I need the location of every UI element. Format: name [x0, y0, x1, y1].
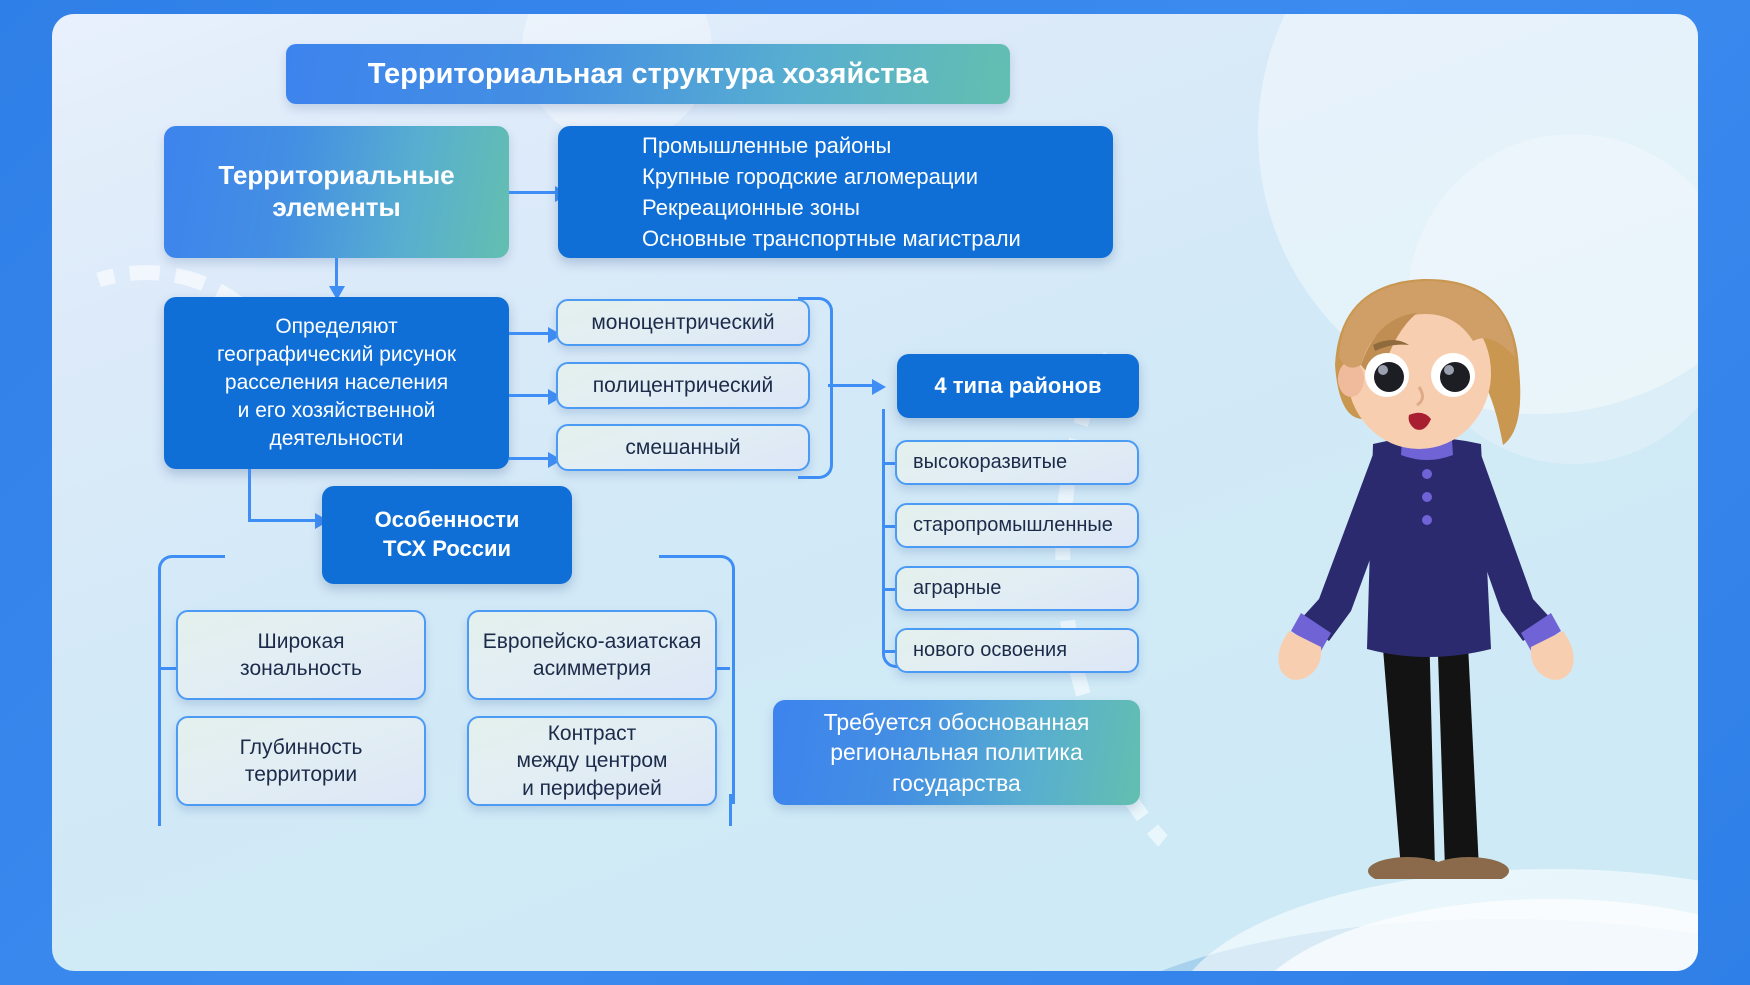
- four-type-label: высокоразвитые: [913, 451, 1067, 474]
- four-type-label: аграрные: [913, 577, 1001, 600]
- connector-determine-to-features-v: [248, 469, 251, 522]
- decor-wave-white: [1172, 869, 1698, 971]
- bracket-features-left-stem: [158, 794, 161, 826]
- button-3: [1422, 515, 1432, 525]
- structure-type-label: моноцентрический: [591, 311, 774, 335]
- left-pupil: [1374, 362, 1404, 392]
- right-shoe: [1429, 857, 1509, 879]
- node-four-type-4: нового освоения: [895, 628, 1139, 673]
- node-determine: Определяют географический рисунок рассел…: [164, 297, 509, 469]
- left-eye-glint: [1378, 365, 1388, 375]
- node-four-type-2: старопромышленные: [895, 503, 1139, 548]
- list-item: Основные транспортные магистрали: [642, 223, 1021, 254]
- node-conclusion: Требуется обоснованная региональная поли…: [773, 700, 1140, 805]
- node-feature-2: Европейско-азиатская асимметрия: [467, 610, 717, 700]
- decor-wave-blue: [1052, 919, 1698, 971]
- list-item: Промышленные районы: [642, 130, 1021, 161]
- left-leg: [1381, 624, 1435, 869]
- list-item: Рекреационные зоны: [642, 192, 1021, 223]
- node-structure-type-2: полицентрический: [556, 362, 810, 409]
- right-pupil: [1440, 362, 1470, 392]
- list-item: Крупные городские агломерации: [642, 161, 1021, 192]
- boy-illustration: [1277, 269, 1577, 879]
- page-title: Территориальная структура хозяйства: [286, 44, 1010, 104]
- right-leg: [1437, 624, 1479, 869]
- decor-wave-top: [1242, 899, 1698, 971]
- four-types-header-label: 4 типа районов: [934, 373, 1101, 399]
- content-card: Территориальная структура хозяйства Терр…: [52, 14, 1698, 971]
- features-header-label: Особенности ТСХ России: [375, 506, 520, 563]
- connector-elements-to-determine: [335, 258, 338, 288]
- arrowhead-types-to-four: [872, 379, 886, 395]
- feature-label: Контраст между центром и периферией: [517, 720, 668, 802]
- node-four-types-header: 4 типа районов: [897, 354, 1139, 418]
- node-four-type-1: высокоразвитые: [895, 440, 1139, 485]
- node-territorial-elements: Территориальные элементы: [164, 126, 509, 258]
- node-feature-3: Глубинность территории: [176, 716, 426, 806]
- bracket-features-right-stem: [729, 794, 732, 826]
- four-type-label: старопромышленные: [913, 514, 1113, 537]
- structure-type-label: смешанный: [625, 436, 740, 460]
- connector-types-to-four: [828, 384, 874, 387]
- node-determine-label: Определяют географический рисунок рассел…: [217, 313, 456, 453]
- infographic-canvas: Территориальная структура хозяйства Терр…: [0, 0, 1750, 985]
- button-2: [1422, 492, 1432, 502]
- elements-list-items: Промышленные районы Крупные городские аг…: [642, 130, 1021, 255]
- four-type-label: нового освоения: [913, 639, 1067, 662]
- node-feature-4: Контраст между центром и периферией: [467, 716, 717, 806]
- connector-elements-to-list: [509, 191, 557, 194]
- connector-determine-to-type-1: [509, 332, 550, 335]
- node-feature-1: Широкая зональность: [176, 610, 426, 700]
- node-elements-list: Промышленные районы Крупные городские аг…: [558, 126, 1113, 258]
- button-1: [1422, 469, 1432, 479]
- right-eye-glint: [1444, 365, 1454, 375]
- node-features-header: Особенности ТСХ России: [322, 486, 572, 584]
- feature-label: Европейско-азиатская асимметрия: [483, 628, 702, 683]
- node-structure-type-1: моноцентрический: [556, 299, 810, 346]
- feature-label: Широкая зональность: [240, 628, 362, 683]
- connector-determine-to-features-h: [248, 519, 317, 522]
- conclusion-label: Требуется обоснованная региональная поли…: [824, 707, 1090, 798]
- connector-determine-to-type-3: [509, 457, 550, 460]
- page-title-text: Территориальная структура хозяйства: [368, 58, 928, 91]
- node-structure-type-3: смешанный: [556, 424, 810, 471]
- feature-label: Глубинность территории: [240, 734, 363, 789]
- connector-determine-to-type-2: [509, 394, 550, 397]
- structure-type-label: полицентрический: [593, 374, 773, 398]
- node-four-type-3: аграрные: [895, 566, 1139, 611]
- node-territorial-elements-label: Территориальные элементы: [218, 160, 454, 223]
